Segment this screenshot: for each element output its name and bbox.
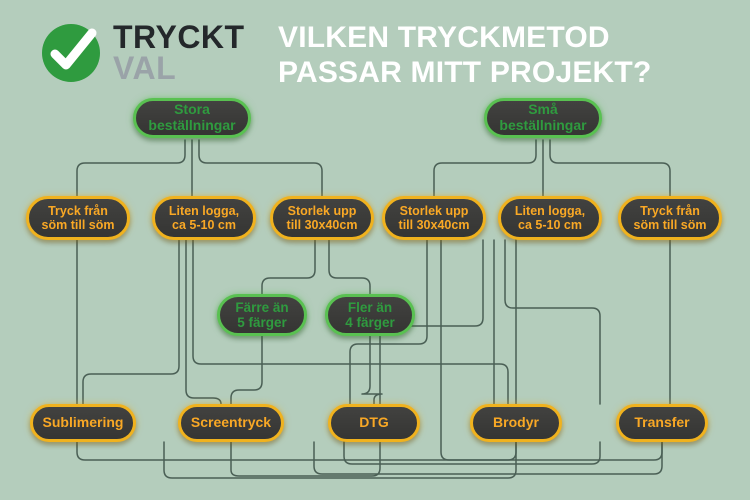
color-node-label-line-2: 5 färger xyxy=(235,315,288,330)
criteria-node-label-line-2: söm till söm xyxy=(634,218,707,232)
criteria-node-label-line-2: ca 5-10 cm xyxy=(515,218,585,232)
start-node-stora[interactable]: Storabeställningar xyxy=(133,98,251,138)
color-node-label-line-1: Fler än xyxy=(345,300,395,315)
start-node-sma[interactable]: Småbeställningar xyxy=(484,98,602,138)
result-node-label: Screentryck xyxy=(191,415,271,431)
result-node-sublimering[interactable]: Sublimering xyxy=(30,404,136,442)
start-node-label-line-2: beställningar xyxy=(499,118,586,134)
criteria-node-label-line-2: söm till söm xyxy=(42,218,115,232)
criteria-node-label: Tryck frånsöm till söm xyxy=(634,204,707,232)
brand-wordmark: TRYCKT VAL xyxy=(113,23,245,83)
result-node-screentryck[interactable]: Screentryck xyxy=(178,404,284,442)
criteria-node-label-line-2: ca 5-10 cm xyxy=(169,218,239,232)
criteria-node-c5[interactable]: Liten logga,ca 5-10 cm xyxy=(498,196,602,240)
criteria-node-label: Liten logga,ca 5-10 cm xyxy=(169,204,239,232)
page-title-line-1: VILKEN TRYCKMETOD xyxy=(278,20,738,55)
start-node-label-line-2: beställningar xyxy=(148,118,235,134)
criteria-node-c3[interactable]: Storlek upptill 30x40cm xyxy=(270,196,374,240)
criteria-node-label-line-1: Storlek upp xyxy=(399,204,470,218)
color-node-label-line-1: Färre än xyxy=(235,300,288,315)
brand-logo: TRYCKT VAL xyxy=(40,14,270,92)
color-node-manycolors[interactable]: Fler än4 färger xyxy=(325,294,415,336)
page-title-line-2: PASSAR MITT PROJEKT? xyxy=(278,55,738,90)
color-node-label: Fler än4 färger xyxy=(345,300,395,330)
start-node-label-line-1: Små xyxy=(499,102,586,118)
result-node-label: Brodyr xyxy=(493,415,539,431)
result-node-label: Sublimering xyxy=(43,415,124,431)
criteria-node-c6[interactable]: Tryck frånsöm till söm xyxy=(618,196,722,240)
color-node-label-line-2: 4 färger xyxy=(345,315,395,330)
start-node-label: Storabeställningar xyxy=(148,102,235,133)
criteria-node-label-line-1: Liten logga, xyxy=(515,204,585,218)
criteria-node-label-line-1: Tryck från xyxy=(634,204,707,218)
start-node-label: Småbeställningar xyxy=(499,102,586,133)
criteria-node-c2[interactable]: Liten logga,ca 5-10 cm xyxy=(152,196,256,240)
result-node-dtg[interactable]: DTG xyxy=(328,404,420,442)
result-node-brodyr[interactable]: Brodyr xyxy=(470,404,562,442)
brand-name-secondary: VAL xyxy=(113,54,245,83)
color-node-fewcolors[interactable]: Färre än5 färger xyxy=(217,294,307,336)
result-node-label: Transfer xyxy=(634,415,689,431)
criteria-node-label: Tryck frånsöm till söm xyxy=(42,204,115,232)
color-node-label: Färre än5 färger xyxy=(235,300,288,330)
criteria-node-label-line-2: till 30x40cm xyxy=(287,218,358,232)
brand-name-primary: TRYCKT xyxy=(113,23,245,52)
criteria-node-label-line-1: Storlek upp xyxy=(287,204,358,218)
result-node-label: DTG xyxy=(359,415,389,431)
criteria-node-label-line-2: till 30x40cm xyxy=(399,218,470,232)
criteria-node-label-line-1: Liten logga, xyxy=(169,204,239,218)
criteria-node-label: Liten logga,ca 5-10 cm xyxy=(515,204,585,232)
result-node-transfer[interactable]: Transfer xyxy=(616,404,708,442)
infographic-canvas: TRYCKT VAL VILKEN TRYCKMETOD PASSAR MITT… xyxy=(0,0,750,500)
criteria-node-label-line-1: Tryck från xyxy=(42,204,115,218)
start-node-label-line-1: Stora xyxy=(148,102,235,118)
criteria-node-label: Storlek upptill 30x40cm xyxy=(287,204,358,232)
page-title: VILKEN TRYCKMETOD PASSAR MITT PROJEKT? xyxy=(278,20,738,90)
criteria-node-c4[interactable]: Storlek upptill 30x40cm xyxy=(382,196,486,240)
criteria-node-label: Storlek upptill 30x40cm xyxy=(399,204,470,232)
green-check-circle-icon xyxy=(40,22,102,84)
criteria-node-c1[interactable]: Tryck frånsöm till söm xyxy=(26,196,130,240)
